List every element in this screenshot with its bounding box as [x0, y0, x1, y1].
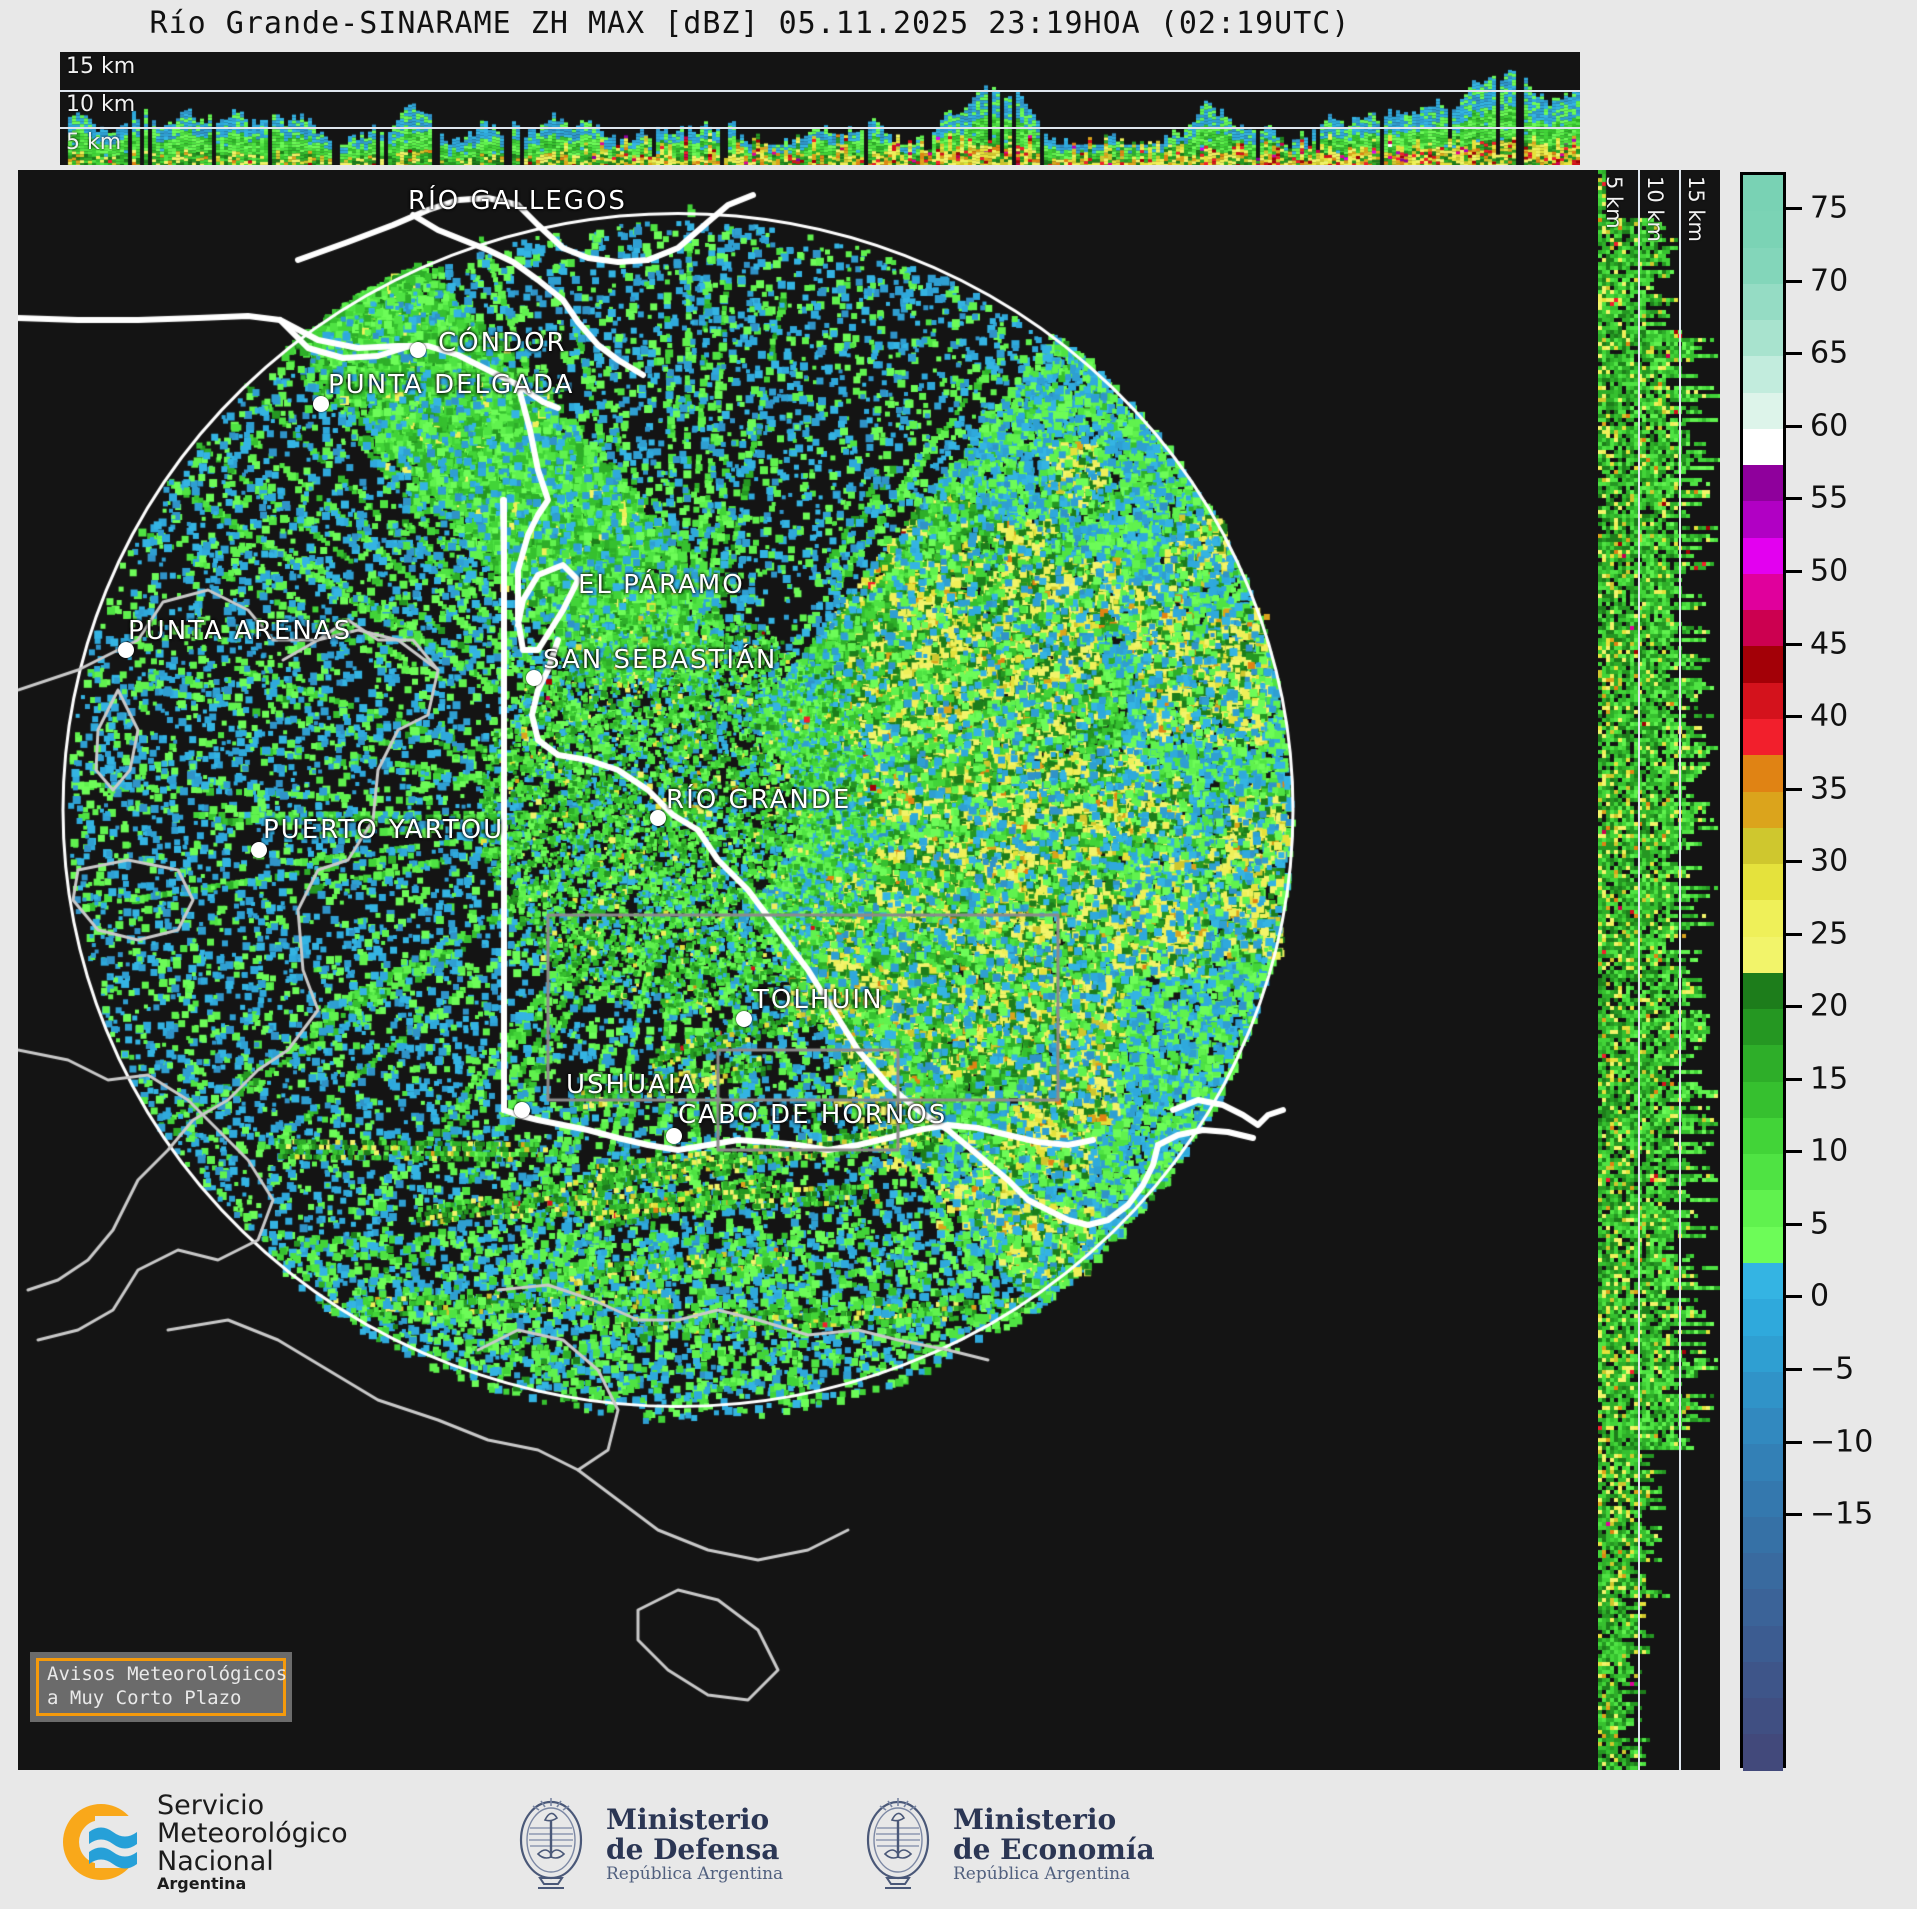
colorbar-segment — [1743, 1336, 1783, 1372]
colorbar-segment — [1743, 792, 1783, 828]
place-label-ushuaia: USHUAIA — [566, 1070, 697, 1100]
colorbar-segment — [1743, 1481, 1783, 1517]
colorbar-segment — [1743, 1444, 1783, 1480]
colorbar-tick — [1786, 425, 1802, 428]
smn-line-3: Nacional — [157, 1848, 348, 1876]
colorbar-segment — [1743, 1408, 1783, 1444]
colorbar-tick-label: 60 — [1810, 408, 1848, 443]
colorbar-segment — [1743, 610, 1783, 646]
warning-line-1: Avisos Meteorológicos — [47, 1663, 283, 1687]
colorbar-tick — [1786, 207, 1802, 210]
colorbar-segment — [1743, 1082, 1783, 1118]
altitude-gridline-5km-v — [1638, 170, 1640, 1770]
argentina-coat-of-arms-icon — [508, 1794, 594, 1894]
logo-ministerio-de-economia: Ministerio de Economía República Argenti… — [855, 1794, 1155, 1894]
place-marker-ushuaia — [514, 1102, 530, 1118]
colorbar-tick — [1786, 280, 1802, 283]
colorbar-tick — [1786, 1295, 1802, 1298]
place-label-r-o-grande: RÍO GRANDE — [666, 785, 851, 815]
nowcast-warning-inner: Avisos Meteorológicos a Muy Corto Plazo — [36, 1658, 286, 1716]
colorbar-segment — [1743, 1698, 1783, 1734]
warning-line-2: a Muy Corto Plazo — [47, 1687, 283, 1711]
defensa-line-2: de Defensa — [606, 1835, 783, 1865]
colorbar-segment — [1743, 1553, 1783, 1589]
colorbar-segment — [1743, 356, 1783, 392]
colorbar-segment — [1743, 755, 1783, 791]
colorbar-segment — [1743, 393, 1783, 429]
colorbar-segment — [1743, 1263, 1783, 1299]
colorbar-tick-label: 65 — [1810, 336, 1848, 371]
place-label-puerto-yartou: PUERTO YARTOU — [263, 815, 504, 845]
altitude-gridline-10km — [60, 127, 1580, 129]
colorbar-tick — [1786, 497, 1802, 500]
economia-line-1: Ministerio — [953, 1805, 1155, 1835]
colorbar-tick-label: 55 — [1810, 481, 1848, 516]
economia-sub: República Argentina — [953, 1865, 1155, 1883]
colorbar-tick — [1786, 1150, 1802, 1153]
colorbar-segment — [1743, 1190, 1783, 1226]
right-xsec-label-10km: 10 km — [1643, 176, 1667, 242]
top-cross-section-canvas — [60, 52, 1580, 165]
colorbar-segment — [1743, 538, 1783, 574]
colorbar-segment — [1743, 1662, 1783, 1698]
radar-reflectivity-canvas — [18, 170, 1598, 1770]
colorbar-segment — [1743, 1372, 1783, 1408]
colorbar-segment — [1743, 900, 1783, 936]
colorbar-tick-label: 0 — [1810, 1279, 1829, 1314]
place-label-c-ndor: CÓNDOR — [438, 328, 567, 358]
colorbar-tick-label: 30 — [1810, 844, 1848, 879]
colorbar-tick-label: 45 — [1810, 626, 1848, 661]
smn-line-2: Meteorológico — [157, 1820, 348, 1848]
colorbar-segment — [1743, 1118, 1783, 1154]
colorbar-tick-label: 40 — [1810, 699, 1848, 734]
colorbar-segment — [1743, 683, 1783, 719]
place-label-punta-delgada: PUNTA DELGADA — [328, 370, 574, 400]
place-marker-c-ndor — [410, 342, 426, 358]
defensa-sub: República Argentina — [606, 1865, 783, 1883]
place-marker-punta-arenas — [118, 642, 134, 658]
right-cross-section-canvas — [1598, 170, 1720, 1770]
colorbar-segment — [1743, 1517, 1783, 1553]
top-cross-section-panel: 15 km 10 km 5 km — [60, 52, 1580, 165]
place-marker-punta-delgada — [313, 396, 329, 412]
colorbar-segment — [1743, 574, 1783, 610]
colorbar-tick — [1786, 570, 1802, 573]
colorbar-tick — [1786, 1368, 1802, 1371]
colorbar-tick — [1786, 1078, 1802, 1081]
colorbar-segment — [1743, 1227, 1783, 1263]
right-xsec-label-5km: 5 km — [1602, 176, 1626, 229]
altitude-gridline-15km — [60, 90, 1580, 92]
colorbar-segment — [1743, 937, 1783, 973]
place-marker-tolhuin — [736, 1011, 752, 1027]
colorbar-segment — [1743, 429, 1783, 465]
colorbar-segment — [1743, 973, 1783, 1009]
top-xsec-label-5km: 5 km — [66, 130, 121, 155]
economia-line-2: de Economía — [953, 1835, 1155, 1865]
place-label-cabo-de-hornos: CABO DE HORNOS — [678, 1100, 947, 1130]
colorbar-segment — [1743, 719, 1783, 755]
colorbar-segment — [1743, 211, 1783, 247]
logo-ministerio-de-defensa: Ministerio de Defensa República Argentin… — [508, 1794, 783, 1894]
colorbar-tick — [1786, 1223, 1802, 1226]
colorbar-segment — [1743, 1589, 1783, 1625]
colorbar-tick — [1786, 933, 1802, 936]
colorbar-tick-label: −15 — [1810, 1497, 1873, 1532]
colorbar-segment — [1743, 1009, 1783, 1045]
colorbar-segment — [1743, 465, 1783, 501]
place-marker-cabo-de-hornos — [666, 1128, 682, 1144]
reflectivity-colorbar — [1740, 172, 1786, 1768]
colorbar-tick-label: 35 — [1810, 771, 1848, 806]
colorbar-tick — [1786, 1005, 1802, 1008]
colorbar-segment — [1743, 284, 1783, 320]
colorbar-segment — [1743, 1299, 1783, 1335]
colorbar-tick — [1786, 1441, 1802, 1444]
colorbar-segment — [1743, 1626, 1783, 1662]
top-xsec-label-15km: 15 km — [66, 54, 135, 79]
defensa-line-1: Ministerio — [606, 1805, 783, 1835]
colorbar-segment — [1743, 646, 1783, 682]
right-cross-section-panel: 5 km 10 km 15 km — [1598, 170, 1720, 1770]
place-marker-san-sebasti-n — [526, 670, 542, 686]
colorbar-segment — [1743, 320, 1783, 356]
smn-logo-icon — [55, 1796, 147, 1888]
colorbar-tick-label: 75 — [1810, 191, 1848, 226]
smn-line-1: Servicio — [157, 1792, 348, 1820]
colorbar-tick-label: 15 — [1810, 1061, 1848, 1096]
colorbar-tick — [1786, 352, 1802, 355]
place-marker-r-o-grande — [650, 810, 666, 826]
colorbar-tick — [1786, 860, 1802, 863]
smn-sub: Argentina — [157, 1876, 348, 1893]
colorbar-segment — [1743, 175, 1783, 211]
place-label-san-sebasti-n: SAN SEBASTIÁN — [543, 645, 777, 675]
colorbar-tick-label: 70 — [1810, 263, 1848, 298]
colorbar-segment — [1743, 864, 1783, 900]
colorbar-tick-label: 20 — [1810, 989, 1848, 1024]
place-label-punta-arenas: PUNTA ARENAS — [128, 616, 352, 646]
top-xsec-label-10km: 10 km — [66, 92, 135, 117]
page-title: Río Grande-SINARAME ZH MAX [dBZ] 05.11.2… — [0, 6, 1500, 41]
colorbar-segment — [1743, 248, 1783, 284]
colorbar-tick-label: −5 — [1810, 1352, 1854, 1387]
place-marker-puerto-yartou — [251, 842, 267, 858]
argentina-coat-of-arms-icon — [855, 1794, 941, 1894]
colorbar-segment — [1743, 828, 1783, 864]
colorbar-tick-label: 50 — [1810, 554, 1848, 589]
colorbar-segment — [1743, 1045, 1783, 1081]
colorbar-segment — [1743, 1734, 1783, 1770]
colorbar-tick — [1786, 715, 1802, 718]
right-xsec-label-15km: 15 km — [1684, 176, 1708, 242]
colorbar-tick — [1786, 788, 1802, 791]
place-label-el-p-ramo: EL PÁRAMO — [578, 570, 745, 600]
colorbar-tick-layer: 757065605550454035302520151050−5−10−15 — [1786, 172, 1906, 1768]
radar-ppi-panel[interactable]: RÍO GALLEGOSCÓNDORPUNTA DELGADAEL PÁRAMO… — [18, 170, 1598, 1770]
nowcast-warning-badge[interactable]: Avisos Meteorológicos a Muy Corto Plazo — [30, 1652, 292, 1722]
colorbar-tick-label: 10 — [1810, 1134, 1848, 1169]
place-label-tolhuin: TOLHUIN — [753, 985, 884, 1015]
colorbar-tick-label: 5 — [1810, 1206, 1829, 1241]
altitude-gridline-10km-v — [1679, 170, 1681, 1770]
footer-logo-bar: Servicio Meteorológico Nacional Argentin… — [0, 1780, 1917, 1909]
colorbar-segment — [1743, 1154, 1783, 1190]
colorbar-tick — [1786, 643, 1802, 646]
colorbar-tick — [1786, 1513, 1802, 1516]
place-label-r-o-gallegos: RÍO GALLEGOS — [408, 186, 627, 216]
colorbar-tick-label: 25 — [1810, 916, 1848, 951]
logo-smn: Servicio Meteorológico Nacional Argentin… — [55, 1792, 348, 1893]
colorbar-tick-label: −10 — [1810, 1424, 1873, 1459]
colorbar-segment — [1743, 501, 1783, 537]
